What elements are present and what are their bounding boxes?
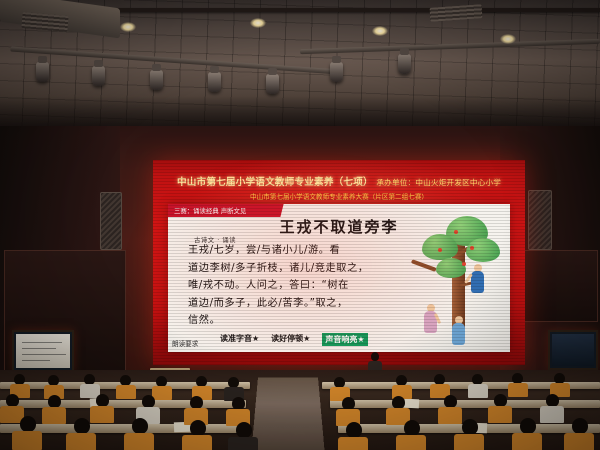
- audience-head: [132, 418, 148, 434]
- audience-shirt: [512, 433, 542, 450]
- audience-shirt: [396, 435, 426, 450]
- stage-lamp-2: [92, 66, 105, 86]
- desk-paper-2: [404, 399, 419, 409]
- wall-speaker-right: [528, 190, 552, 250]
- audience-head: [236, 422, 252, 438]
- left-aux-display[interactable]: [12, 330, 74, 372]
- audience-shirt: [116, 385, 136, 399]
- led-screen[interactable]: 中山市第七届小学语文教师专业素养（七项） 承办单位：中山火炬开发区中心小学 中山…: [153, 160, 525, 365]
- desk-row-3: [0, 400, 246, 408]
- right-aux-display-content: [552, 334, 594, 366]
- left-aux-display-content: [16, 334, 70, 368]
- audience-head: [346, 422, 362, 438]
- ceiling-downlight-2: [250, 18, 266, 28]
- audience-head: [20, 416, 36, 432]
- center-aisle: [251, 377, 324, 450]
- stage-lamp-6: [330, 62, 343, 82]
- audience-shirt: [488, 406, 512, 423]
- audience-shirt: [124, 433, 154, 450]
- audience-head: [520, 418, 536, 434]
- audience-shirt: [228, 437, 258, 450]
- audience-shirt: [182, 435, 212, 450]
- audience-shirt: [152, 386, 172, 400]
- audience-shirt: [90, 406, 114, 423]
- audience-shirt: [66, 433, 96, 450]
- ceiling-downlight-4: [500, 34, 516, 44]
- ceiling-downlight-3: [372, 26, 388, 36]
- wall-speaker-left: [100, 192, 122, 250]
- audience-shirt: [564, 433, 594, 450]
- audience-shirt: [454, 434, 484, 450]
- audience-shirt: [468, 384, 488, 398]
- ceiling-downlight-1: [120, 22, 136, 32]
- audience-head: [404, 420, 420, 436]
- audience-head: [572, 418, 588, 434]
- stage-lamp-4: [208, 72, 221, 92]
- photo-scene: 中山市第七届小学语文教师专业素养（七项） 承办单位：中山火炬开发区中心小学 中山…: [0, 0, 600, 450]
- audience-shirt: [540, 406, 564, 423]
- audience-head: [74, 418, 90, 434]
- audience-head: [462, 419, 478, 435]
- stage-lamp-7: [398, 54, 411, 74]
- led-scanlines: [153, 160, 525, 365]
- right-aux-display[interactable]: [548, 330, 598, 370]
- presenter-head: [371, 352, 379, 361]
- audience-shirt: [42, 407, 66, 424]
- audience-shirt: [12, 431, 42, 450]
- audience-shirt: [438, 407, 462, 424]
- audience-shirt: [338, 437, 368, 450]
- audience-head: [190, 420, 206, 436]
- stage-lamp-3: [150, 70, 163, 90]
- stage-lamp-5: [266, 74, 279, 94]
- stage-lamp-1: [36, 62, 49, 82]
- audience-shirt: [508, 383, 528, 397]
